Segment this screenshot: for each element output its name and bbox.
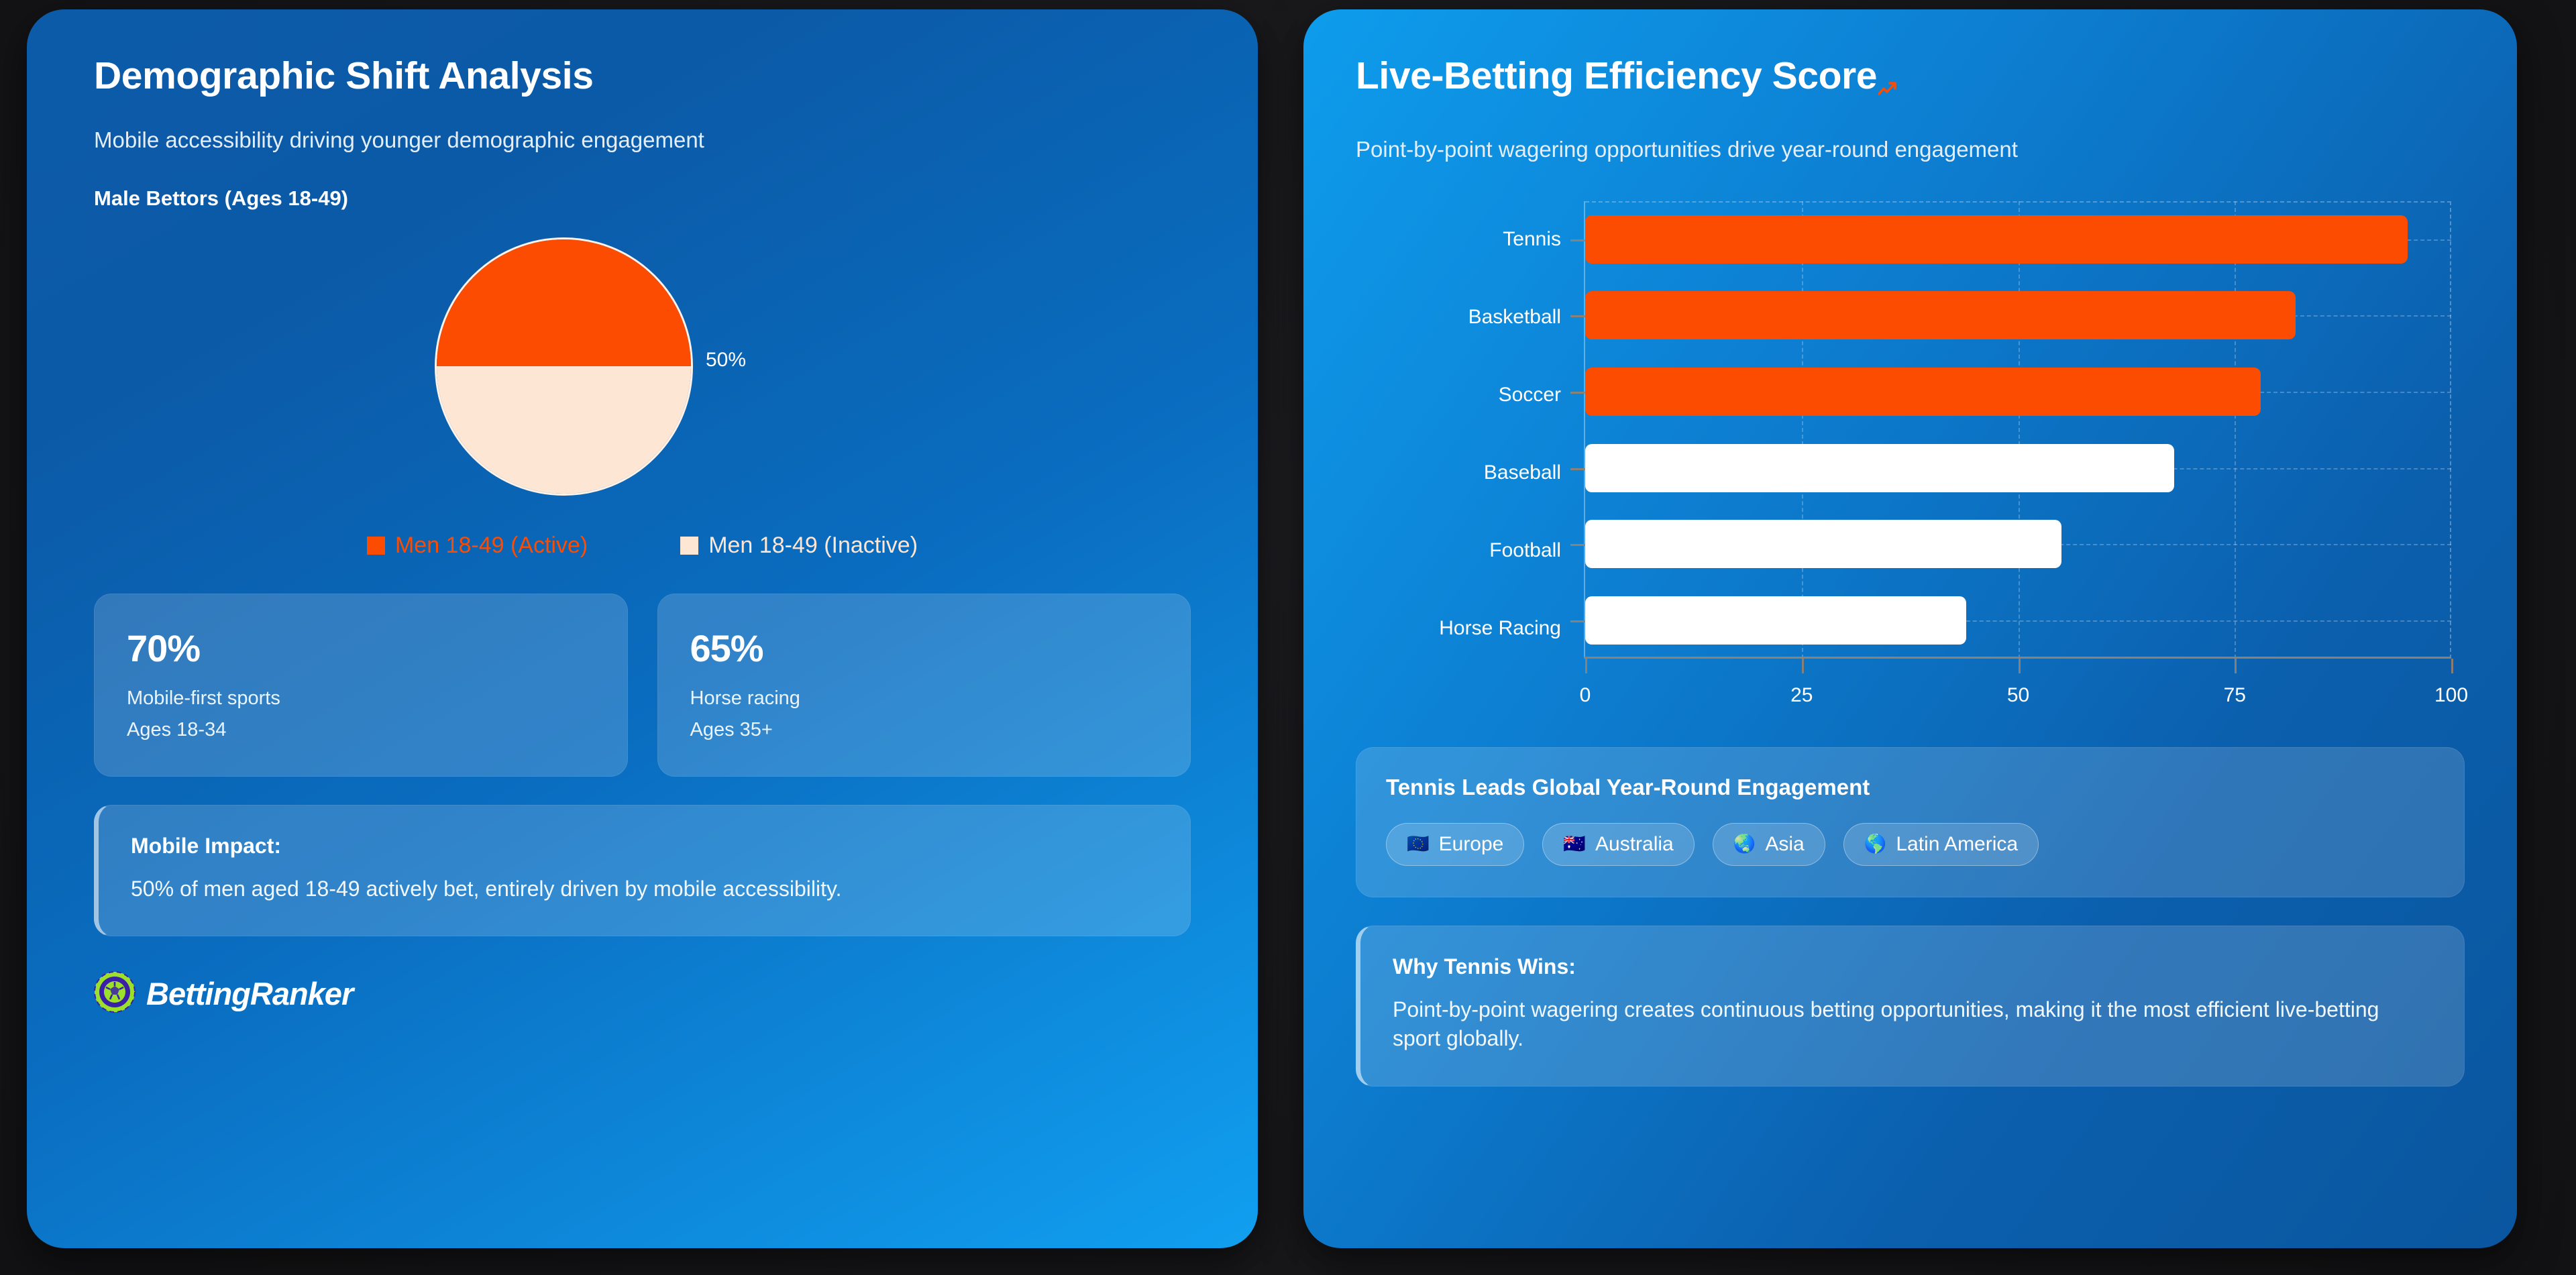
legend-swatch-icon	[680, 537, 698, 555]
bar-basketball[interactable]	[1585, 291, 2296, 339]
dashboard-canvas: Demographic Shift Analysis Mobile access…	[0, 0, 2576, 1275]
region-badge-label: Europe	[1439, 833, 1504, 856]
bar-chart-plot-area: 0 25 50 75 100	[1584, 201, 2451, 659]
y-axis-label-horse-racing: Horse Racing	[1356, 617, 1561, 640]
bar-horse-racing[interactable]	[1585, 596, 1966, 645]
table-row[interactable]	[1585, 215, 2451, 264]
left-panel-subtitle: Mobile accessibility driving younger dem…	[94, 127, 1191, 153]
region-badge-label: Asia	[1765, 833, 1804, 856]
table-row[interactable]	[1585, 444, 2451, 492]
region-badge-europe[interactable]: 🇪🇺 Europe	[1386, 823, 1524, 866]
callout-title: Mobile Impact:	[131, 834, 1158, 858]
badge-card-title: Tennis Leads Global Year-Round Engagemen…	[1386, 775, 2434, 800]
gridline-vertical	[2235, 201, 2236, 659]
flag-europe-icon: 🇪🇺	[1407, 835, 1430, 853]
stat-description: Horse racing	[690, 687, 1159, 710]
pie-slice-value-label: 50%	[706, 349, 746, 372]
stat-value: 65%	[690, 626, 1159, 670]
pie-slice-inactive	[437, 366, 691, 494]
x-tick-mark	[2019, 659, 2021, 673]
x-axis-tick-label: 75	[2224, 684, 2246, 707]
pie-circle	[435, 237, 693, 496]
x-tick-mark	[2451, 659, 2453, 673]
table-row[interactable]	[1585, 520, 2451, 568]
region-badge-latin-america[interactable]: 🌎 Latin America	[1843, 823, 2039, 866]
soccer-ball-emblem-icon	[94, 971, 136, 1016]
why-tennis-wins-callout: Why Tennis Wins: Point-by-point wagering…	[1356, 926, 2465, 1087]
y-tick-mark	[1570, 468, 1585, 470]
callout-title: Why Tennis Wins:	[1393, 954, 2432, 979]
gridline-vertical	[2019, 201, 2020, 659]
right-panel-title: Live-Betting Efficiency Score	[1356, 56, 2465, 106]
live-betting-efficiency-panel: Live-Betting Efficiency Score Point-by-p…	[1303, 9, 2517, 1248]
table-row[interactable]	[1585, 291, 2451, 339]
x-tick-mark	[1802, 659, 1804, 673]
stat-value: 70%	[127, 626, 595, 670]
pie-section-label: Male Bettors (Ages 18-49)	[94, 186, 1191, 211]
y-tick-mark	[1570, 392, 1585, 394]
legend-label-active: Men 18-49 (Active)	[395, 533, 588, 559]
table-row[interactable]	[1585, 368, 2451, 416]
trending-up-arrow-icon	[1878, 66, 1898, 106]
table-row[interactable]	[1585, 596, 2451, 645]
region-badge-label: Latin America	[1896, 833, 2018, 856]
pie-slice-active	[437, 239, 691, 367]
region-badge-label: Australia	[1595, 833, 1674, 856]
demographic-shift-panel: Demographic Shift Analysis Mobile access…	[27, 9, 1258, 1248]
x-axis-tick-label: 25	[1790, 684, 1813, 707]
x-axis-tick-label: 100	[2434, 684, 2468, 707]
legend-item-inactive[interactable]: Men 18-49 (Inactive)	[680, 533, 918, 559]
pie-legend: Men 18-49 (Active) Men 18-49 (Inactive)	[94, 533, 1191, 559]
page-title: Demographic Shift Analysis	[94, 56, 1191, 97]
flag-australia-icon: 🇦🇺	[1563, 835, 1586, 853]
logo-text-part1: Betting	[146, 976, 250, 1011]
callout-body: 50% of men aged 18-49 actively bet, enti…	[131, 875, 1158, 904]
y-tick-mark	[1570, 620, 1585, 622]
bar-tennis[interactable]	[1585, 215, 2408, 264]
gridline-vertical	[1802, 201, 1803, 659]
x-axis-line	[1584, 657, 2451, 659]
legend-item-active[interactable]: Men 18-49 (Active)	[367, 533, 588, 559]
efficiency-bar-chart: 0 25 50 75 100 Tennis Basketball Soccer …	[1356, 193, 2465, 723]
y-axis-label-basketball: Basketball	[1356, 306, 1561, 329]
x-axis-tick-label: 50	[2007, 684, 2029, 707]
brand-logo[interactable]: BettingRanker	[94, 971, 1191, 1016]
x-axis-tick-label: 0	[1580, 684, 1591, 707]
y-axis-label-baseball: Baseball	[1356, 461, 1561, 484]
right-panel-subtitle: Point-by-point wagering opportunities dr…	[1356, 137, 2465, 162]
y-tick-mark	[1570, 544, 1585, 546]
region-badge-asia[interactable]: 🌏 Asia	[1713, 823, 1825, 866]
mobile-impact-callout: Mobile Impact: 50% of men aged 18-49 act…	[94, 805, 1191, 937]
legend-swatch-icon	[367, 537, 385, 555]
stat-card-horse-racing: 65% Horse racing Ages 35+	[657, 594, 1191, 777]
stat-card-mobile-first: 70% Mobile-first sports Ages 18-34	[94, 594, 628, 777]
legend-label-inactive: Men 18-49 (Inactive)	[708, 533, 918, 559]
x-tick-mark	[1585, 659, 1587, 673]
region-badge-group: 🇪🇺 Europe 🇦🇺 Australia 🌏 Asia 🌎 Latin Am…	[1386, 823, 2434, 866]
bar-football[interactable]	[1585, 520, 2061, 568]
stat-age-range: Ages 18-34	[127, 719, 595, 741]
bar-baseball[interactable]	[1585, 444, 2174, 492]
globe-americas-icon: 🌎	[1864, 835, 1887, 853]
y-axis-label-football: Football	[1356, 539, 1561, 562]
pie-chart: 50%	[94, 223, 1191, 504]
x-tick-mark	[2235, 659, 2237, 673]
logo-text-part2: Ranker	[250, 976, 353, 1011]
brand-logo-text: BettingRanker	[146, 975, 353, 1012]
y-axis-label-soccer: Soccer	[1356, 384, 1561, 406]
stat-age-range: Ages 35+	[690, 719, 1159, 741]
left-panel-title-text: Demographic Shift Analysis	[94, 56, 594, 97]
callout-body: Point-by-point wagering creates continuo…	[1393, 995, 2432, 1054]
stat-card-group: 70% Mobile-first sports Ages 18-34 65% H…	[94, 594, 1191, 777]
bar-soccer[interactable]	[1585, 368, 2261, 416]
y-tick-mark	[1570, 239, 1585, 241]
right-panel-title-text: Live-Betting Efficiency Score	[1356, 56, 1877, 97]
globe-asia-icon: 🌏	[1733, 835, 1756, 853]
global-engagement-card: Tennis Leads Global Year-Round Engagemen…	[1356, 747, 2465, 897]
stat-description: Mobile-first sports	[127, 687, 595, 710]
region-badge-australia[interactable]: 🇦🇺 Australia	[1542, 823, 1694, 866]
y-tick-mark	[1570, 315, 1585, 317]
y-axis-label-tennis: Tennis	[1356, 228, 1561, 251]
